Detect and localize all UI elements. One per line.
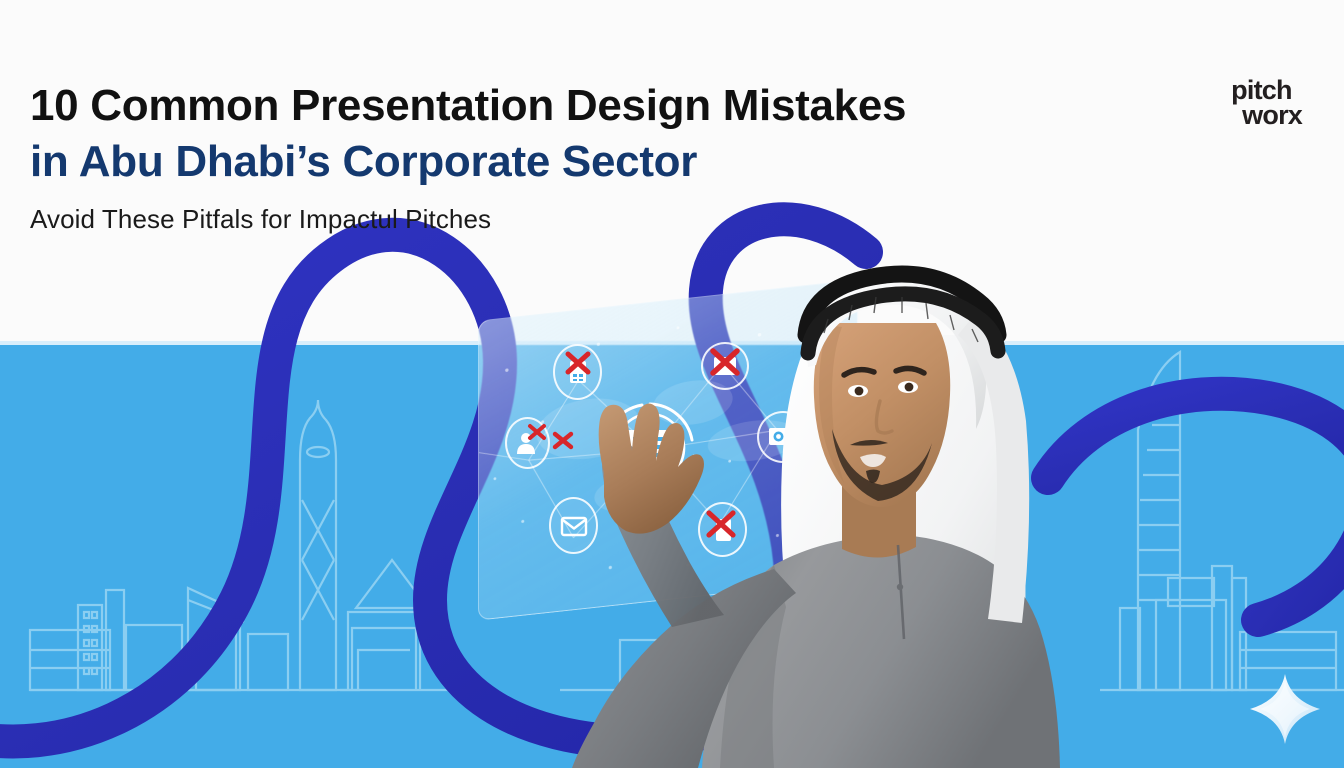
user-error-icon[interactable] [505, 417, 550, 469]
brand-logo-line2: worx [1242, 103, 1302, 128]
sparkle-icon [1248, 672, 1322, 746]
page-title-line2: in Abu Dhabi’s Corporate Sector [30, 134, 1050, 190]
presentation-slide: Zoho [0, 0, 1344, 768]
brand-logo[interactable]: pitch worx [1231, 78, 1302, 128]
user-glyph [515, 430, 541, 456]
presenter-hand [599, 403, 704, 533]
thobe-button [897, 584, 903, 590]
page-title-line1: 10 Common Presentation Design Mistakes [30, 78, 1050, 134]
title-block: 10 Common Presentation Design Mistakes i… [30, 78, 1050, 235]
page-subtitle: Avoid These Pitfals for Impactul Pitches [30, 204, 1050, 235]
presenter-photo [560, 215, 1180, 768]
